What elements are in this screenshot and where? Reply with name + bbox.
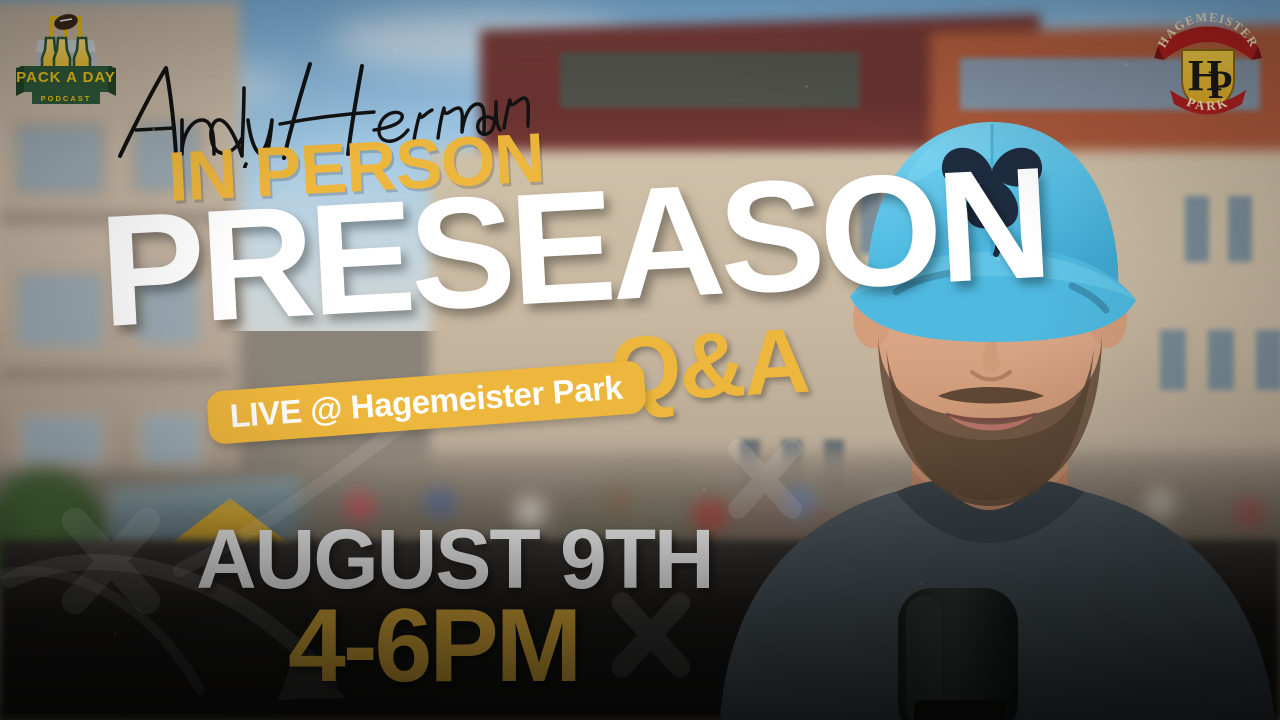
headline-text: PRESEASON: [97, 156, 1050, 341]
event-time: 4-6PM: [288, 600, 579, 694]
hagemeister-park-logo[interactable]: HAGEMEISTER H P PARK: [1152, 6, 1264, 118]
event-date: AUGUST 9TH: [196, 522, 713, 598]
podcast-microphone-icon: [898, 588, 1018, 720]
pack-a-day-podcast-logo[interactable]: PACK A DAY PODCAST: [14, 6, 118, 110]
svg-text:PACK A DAY: PACK A DAY: [16, 69, 116, 86]
promo-poster: PACK A DAY PODCAST HAGEMEISTER H P PARK: [0, 0, 1280, 720]
svg-text:PODCAST: PODCAST: [41, 94, 92, 103]
